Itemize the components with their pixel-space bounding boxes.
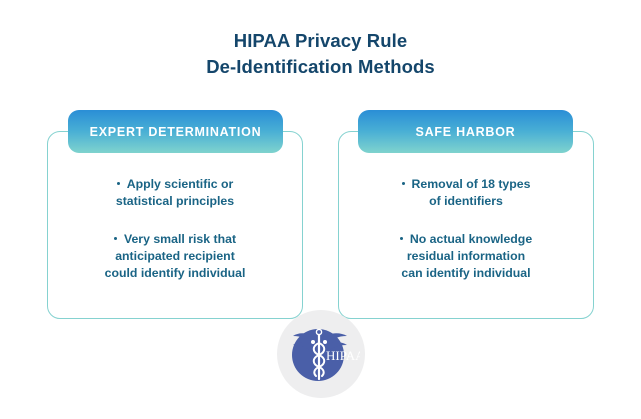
bullet-line: residual information [364,248,568,265]
bullet-line: could identify individual [73,265,277,282]
bullet-line: Removal of 18 types [364,176,568,193]
list-item: No actual knowledge residual information… [338,231,594,282]
bullet-text: No actual knowledge [410,232,532,246]
bullet-line: No actual knowledge [364,231,568,248]
list-item: Apply scientific or statistical principl… [47,176,303,210]
bullet-text: Removal of 18 types [412,177,531,191]
bullet-list-expert-determination: Apply scientific or statistical principl… [47,176,303,282]
bullet-line: Very small risk that [73,231,277,248]
hipaa-logo: HIPAA [277,310,365,398]
bullet-text: Very small risk that [124,232,236,246]
bullet-line: Apply scientific or [73,176,277,193]
page-title: HIPAA Privacy Rule De-Identification Met… [0,28,641,80]
bullet-line: can identify individual [364,265,568,282]
bullet-line: of identifiers [364,193,568,210]
card-header-label: EXPERT DETERMINATION [90,125,262,139]
infographic-canvas: HIPAA Privacy Rule De-Identification Met… [0,0,641,419]
bullet-list-safe-harbor: Removal of 18 types of identifiers No ac… [338,176,594,282]
page-title-line-1: HIPAA Privacy Rule [0,28,641,54]
list-item: Removal of 18 types of identifiers [338,176,594,210]
bullet-line: anticipated recipient [73,248,277,265]
card-header-expert-determination: EXPERT DETERMINATION [68,110,283,153]
list-item: Very small risk that anticipated recipie… [47,231,303,282]
caduceus-icon: HIPAA [282,315,360,393]
bullet-dot-icon [402,182,405,185]
card-header-label: SAFE HARBOR [416,125,516,139]
bullet-line: statistical principles [73,193,277,210]
bullet-dot-icon [400,237,403,240]
hipaa-logo-text: HIPAA [326,348,360,363]
bullet-text: Apply scientific or [127,177,234,191]
bullet-dot-icon [114,237,117,240]
bullet-dot-icon [117,182,120,185]
card-header-safe-harbor: SAFE HARBOR [358,110,573,153]
page-title-line-2: De-Identification Methods [0,54,641,80]
